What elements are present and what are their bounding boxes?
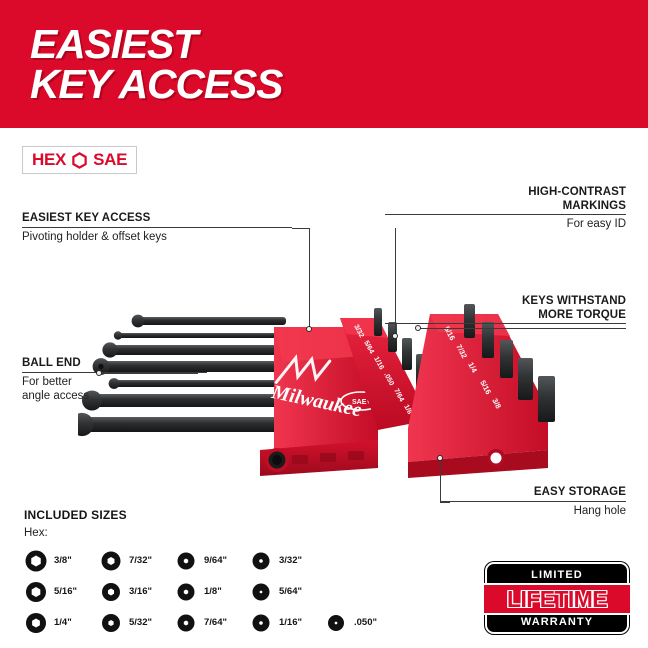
callout-high-contrast-title-line2: MARKINGS xyxy=(563,200,626,212)
callout-high-contrast-subtitle: For easy ID xyxy=(385,215,626,231)
leader-endpoint xyxy=(437,455,443,461)
callout-ball-end-subtitle-line2: angle access xyxy=(22,390,89,402)
leader-line xyxy=(440,459,441,503)
leader-endpoint xyxy=(306,326,312,332)
included-sizes-heading: INCLUDED SIZES xyxy=(24,508,444,522)
callout-keys-withstand-title-line2: MORE TORQUE xyxy=(538,309,626,321)
size-label: 7/64" xyxy=(204,617,227,628)
warranty-bottom-label: WARRANTY xyxy=(487,616,627,628)
size-label: 7/32" xyxy=(129,555,152,566)
limited-lifetime-warranty-badge: LIMITED LIFETIME WARRANTY xyxy=(485,562,629,634)
size-item: 7/32" xyxy=(99,549,174,573)
holder-body-right: 5/16 7/32 1/4 5/16 3/8 xyxy=(408,304,555,478)
leader-line xyxy=(440,502,450,503)
leader-line xyxy=(309,228,310,329)
size-label: 5/16" xyxy=(54,586,77,597)
size-item: .050" xyxy=(324,611,399,635)
product-infographic: EASIEST KEY ACCESS HEX SAE xyxy=(0,0,648,648)
leader-endpoint xyxy=(415,325,421,331)
callout-high-contrast-markings: HIGH-CONTRAST MARKINGS For easy ID xyxy=(385,186,626,232)
leader-endpoint xyxy=(392,333,398,339)
callout-easy-storage: EASY STORAGE Hang hole xyxy=(440,486,626,518)
leader-endpoint xyxy=(96,370,102,376)
leader-line xyxy=(418,328,626,329)
callout-easiest-key-access-subtitle: Pivoting holder & offset keys xyxy=(22,228,292,244)
size-item: 3/8" xyxy=(24,549,99,573)
size-item: 5/64" xyxy=(249,580,324,604)
hex-socket-icon xyxy=(249,580,273,604)
size-label: 5/32" xyxy=(129,617,152,628)
page-title-line2: KEY ACCESS xyxy=(30,64,590,104)
size-label: 5/64" xyxy=(279,586,302,597)
size-item: 9/64" xyxy=(174,549,249,573)
warranty-middle-label: LIFETIME xyxy=(507,586,607,613)
hex-sae-badge: HEX SAE xyxy=(22,146,137,174)
callout-ball-end-subtitle-line1: For better xyxy=(22,376,72,388)
hang-hole xyxy=(487,449,505,467)
size-item: 1/16" xyxy=(249,611,324,635)
included-sizes-type-label: Hex: xyxy=(24,527,444,539)
size-label: 1/16" xyxy=(279,617,302,628)
hex-socket-icon xyxy=(99,549,123,573)
hex-socket-icon xyxy=(174,549,198,573)
size-label: 1/4" xyxy=(54,617,72,628)
leader-line xyxy=(100,373,198,374)
callout-keys-withstand-more-torque: KEYS WITHSTAND MORE TORQUE xyxy=(385,295,626,324)
size-label: 3/32" xyxy=(279,555,302,566)
callout-easy-storage-title: EASY STORAGE xyxy=(440,486,626,500)
page-title-line1: EASIEST xyxy=(30,21,197,67)
hex-socket-icon xyxy=(174,580,198,604)
warranty-middle-band: LIFETIME xyxy=(484,583,630,615)
svg-text:SAE: SAE xyxy=(352,399,367,406)
size-item: 1/4" xyxy=(24,611,99,635)
hex-sae-left-label: HEX xyxy=(32,150,66,170)
warranty-top-label: LIMITED xyxy=(487,569,627,581)
hex-socket-icon xyxy=(99,611,123,635)
callout-easiest-key-access-title: EASIEST KEY ACCESS xyxy=(22,212,292,226)
hex-socket-icon xyxy=(249,549,273,573)
hex-socket-icon xyxy=(24,549,48,573)
size-item: 5/32" xyxy=(99,611,174,635)
size-item: 3/32" xyxy=(249,549,324,573)
size-row: 1/4"5/32"7/64"1/16".050" xyxy=(24,607,444,638)
callout-rule xyxy=(385,323,626,324)
size-row: 5/16"3/16"1/8"5/64" xyxy=(24,576,444,607)
hexagon-outline-icon xyxy=(71,152,88,169)
included-sizes-grid: 3/8"7/32"9/64"3/32"5/16"3/16"1/8"5/64"1/… xyxy=(24,545,444,638)
included-sizes-section: INCLUDED SIZES Hex: 3/8"7/32"9/64"3/32"5… xyxy=(24,508,444,638)
hex-socket-icon xyxy=(24,580,48,604)
header-banner: EASIEST KEY ACCESS xyxy=(0,0,648,128)
size-item: 1/8" xyxy=(174,580,249,604)
size-item: 7/64" xyxy=(174,611,249,635)
size-label: 3/8" xyxy=(54,555,72,566)
hex-socket-icon xyxy=(24,611,48,635)
size-label: 1/8" xyxy=(204,586,222,597)
page-title: EASIEST KEY ACCESS xyxy=(30,24,590,104)
hex-socket-icon xyxy=(249,611,273,635)
callout-high-contrast-title-line1: HIGH-CONTRAST xyxy=(528,186,626,198)
size-label: 3/16" xyxy=(129,586,152,597)
size-item: 3/16" xyxy=(99,580,174,604)
size-item: 5/16" xyxy=(24,580,99,604)
size-row: 3/8"7/32"9/64"3/32" xyxy=(24,545,444,576)
hex-socket-icon xyxy=(99,580,123,604)
size-label: .050" xyxy=(354,617,377,628)
hex-socket-icon xyxy=(174,611,198,635)
size-label: 9/64" xyxy=(204,555,227,566)
hex-sae-right-label: SAE xyxy=(93,150,127,170)
callout-ball-end-title: BALL END xyxy=(22,357,207,371)
leader-line xyxy=(292,228,310,229)
callout-ball-end: BALL END For better angle access xyxy=(22,357,207,403)
callout-keys-withstand-title-line1: KEYS WITHSTAND xyxy=(522,295,626,307)
callout-easiest-key-access: EASIEST KEY ACCESS Pivoting holder & off… xyxy=(22,212,292,244)
callout-easy-storage-subtitle: Hang hole xyxy=(440,502,626,518)
hex-socket-icon xyxy=(324,611,348,635)
